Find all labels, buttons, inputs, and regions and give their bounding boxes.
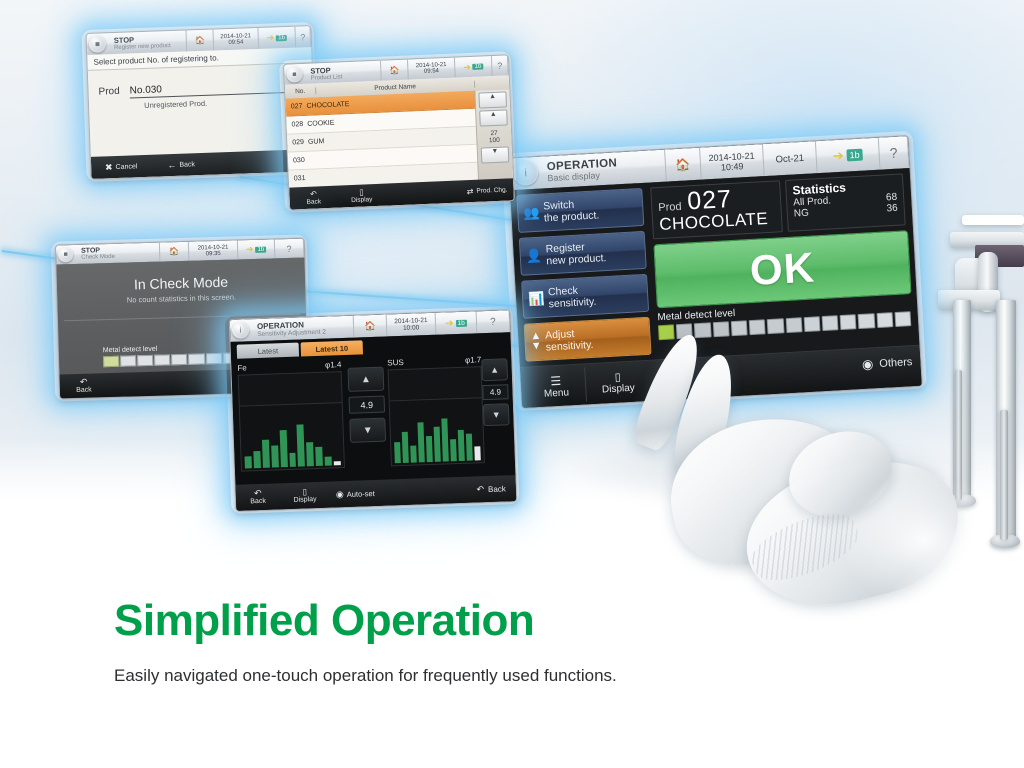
switch-product-icon: 👥 [523, 205, 540, 222]
fe-stepper: ▲ 4.9 ▼ [347, 367, 386, 443]
sensitivity-adjustment-panel: i OPERATION Sensitivity Adjustment 2 🏠 2… [229, 309, 518, 512]
channel-sus: SUS φ1.7 [387, 355, 485, 466]
scroll-down-button[interactable]: ▼ [481, 146, 510, 163]
main-menu-buttons: 👥 Switch the product. 👤 Register new pro… [516, 188, 651, 362]
bar [417, 423, 424, 463]
register-title: Register new product [114, 43, 171, 51]
detect-level-segment [171, 354, 187, 365]
slide-root: i OPERATION Basic display 🏠 2014-10-21 1… [0, 0, 1024, 768]
home-icon[interactable]: 🏠 [160, 242, 190, 262]
sus-name: SUS [387, 358, 404, 368]
tab-latest-10[interactable]: Latest 10 [301, 340, 363, 356]
product-info-box: Prod 027 CHOCOLATE [650, 180, 783, 239]
checkmode-back-label: Back [76, 387, 92, 394]
sens-subtitle: Sensitivity Adjustment 2 [257, 329, 326, 338]
stop-knob-icon[interactable]: ■ [89, 35, 107, 53]
switch-product-line2: the product. [544, 209, 600, 224]
sens-display-button[interactable]: ▯ Display [280, 487, 330, 504]
row-name: COOKIE [307, 120, 335, 128]
main-panel-time: 10:49 [721, 161, 744, 172]
sus-size: φ1.7 [465, 355, 482, 365]
bar [441, 418, 449, 462]
sens-back-label: Back [250, 498, 266, 506]
button-switch-product[interactable]: 👥 Switch the product. [516, 188, 644, 233]
lot-icon[interactable]: 1b [846, 149, 863, 162]
judgement-display: OK [653, 230, 911, 308]
checkmode-back-button[interactable]: ↶ Back [60, 377, 108, 394]
sens-autoset-button[interactable]: ◉ Auto-set [336, 487, 375, 499]
help-icon[interactable]: ? [492, 55, 509, 76]
fe-value: 4.9 [349, 396, 386, 414]
counter-top: 27 [490, 130, 498, 137]
sensitivity-body: Latest Latest 10 Fe φ1.4 [231, 332, 517, 511]
lot-icon[interactable]: 1b [473, 63, 484, 69]
check-mode-title: In Check Mode [56, 258, 305, 295]
sus-stepper: ▲ 4.9 ▼ [481, 358, 509, 426]
register-field-note: Unregistered Prod. [130, 95, 303, 110]
plist-display-button[interactable]: ▯ Display [337, 187, 386, 204]
check-sensitivity-line2: sensitivity. [548, 296, 596, 311]
sus-stepper-down[interactable]: ▼ [483, 403, 510, 426]
home-icon[interactable]: 🏠 [354, 314, 388, 337]
bar-marker [334, 461, 341, 466]
detect-level-segment [137, 355, 153, 366]
product-list-rows: 027 CHOCOLATE 028 COOKIE 029 GUM 030 031 [285, 91, 479, 189]
row-no: 030 [293, 157, 305, 164]
sens-return-label: Back [488, 484, 506, 494]
info-knob-icon[interactable]: i [512, 160, 538, 186]
button-register-product[interactable]: 👤 Register new product. [519, 231, 647, 276]
scroll-page-up-button[interactable]: ▲ [479, 109, 508, 126]
bar [271, 445, 279, 468]
gloved-hand [640, 325, 970, 605]
plist-prodchg-button[interactable]: ⇄ Prod. Chg. [467, 185, 508, 196]
register-cancel-button[interactable]: ✖ Cancel [91, 160, 151, 173]
main-panel-day-label: Oct-21 [763, 141, 818, 176]
main-panel-subtitle: Basic display [547, 170, 600, 183]
row-no: 028 [291, 121, 303, 128]
row-name: GUM [308, 138, 325, 146]
plist-prodchg-label: Prod. Chg. [476, 186, 507, 194]
bar [289, 453, 296, 467]
footer-display-label: Display [602, 383, 635, 396]
counter-bottom: 100 [489, 137, 500, 144]
bar [279, 430, 287, 467]
bar [450, 439, 457, 462]
footer-menu-label: Menu [544, 387, 570, 399]
stop-knob-icon[interactable]: ■ [58, 247, 73, 262]
bar-marker [474, 447, 480, 461]
bar [410, 446, 417, 463]
register-back-label: Back [179, 161, 195, 169]
close-icon: ✖ [105, 162, 113, 173]
row-no: 031 [294, 175, 306, 182]
key-icon[interactable]: ➔ [463, 61, 471, 72]
fe-size: φ1.4 [325, 360, 342, 370]
register-time: 09:54 [228, 39, 243, 46]
key-icon[interactable]: ➔ [445, 318, 454, 329]
register-back-button[interactable]: ← Back [151, 159, 211, 171]
bar [426, 436, 433, 462]
row-no: 027 [291, 103, 303, 110]
checkmode-title-small: Check Mode [81, 254, 115, 261]
sens-display-label: Display [293, 496, 316, 504]
detect-level-segment [154, 354, 170, 365]
bar [253, 451, 261, 469]
stat-label-all-prod: All Prod. [793, 195, 831, 208]
fe-bar-chart [239, 402, 345, 472]
bar [316, 447, 324, 466]
stat-label-ng: NG [794, 208, 810, 220]
sus-stepper-up[interactable]: ▲ [481, 358, 508, 381]
detect-level-segment [206, 353, 222, 364]
fe-name: Fe [237, 363, 247, 372]
info-knob-icon[interactable]: i [232, 321, 250, 339]
register-cancel-label: Cancel [115, 163, 137, 171]
fe-stepper-down[interactable]: ▼ [349, 418, 386, 443]
bar [402, 432, 409, 463]
bar [466, 433, 473, 460]
plist-back-button[interactable]: ↶ Back [289, 189, 338, 206]
help-icon[interactable]: ? [879, 136, 910, 170]
product-list-body: No. Product Name 027 CHOCOLATE 028 COOKI… [285, 75, 514, 209]
back-arrow-icon: ↶ [254, 489, 262, 498]
menu-icon: ☰ [550, 373, 562, 388]
home-icon[interactable]: 🏠 [381, 60, 409, 81]
plist-time: 09:54 [424, 68, 439, 75]
back-arrow-icon: ← [167, 160, 176, 170]
detect-level-segment-active [103, 356, 119, 367]
fe-stepper-up[interactable]: ▲ [347, 367, 384, 392]
auto-set-icon: ◉ [336, 489, 344, 500]
fe-upper-box [238, 371, 343, 406]
register-product-icon: 👤 [525, 248, 542, 265]
plist-title: Product List [311, 74, 343, 81]
display-icon: ▯ [359, 188, 364, 196]
sus-value: 4.9 [482, 384, 509, 400]
help-icon[interactable]: ? [477, 310, 511, 333]
key-icon[interactable]: ➔ [832, 148, 844, 165]
tab-latest[interactable]: Latest [237, 343, 299, 359]
sens-time: 10:00 [403, 324, 420, 332]
display-icon: ▯ [614, 370, 621, 383]
footer-display-button[interactable]: ▯ Display [588, 364, 648, 401]
judgement-value: OK [749, 243, 817, 295]
home-icon[interactable]: 🏠 [665, 148, 702, 182]
stat-value-all-prod: 68 [886, 192, 898, 204]
button-check-sensitivity[interactable]: 📊 Check sensitivity. [521, 274, 649, 319]
adjust-sensitivity-line2: sensitivity. [546, 339, 594, 354]
bar [434, 426, 441, 462]
sens-autoset-label: Auto-set [347, 488, 375, 498]
bar [306, 443, 314, 467]
bar [458, 430, 465, 461]
page-title: Simplified Operation [114, 598, 974, 644]
bar [325, 457, 332, 466]
checkmode-time: 09:35 [206, 250, 221, 256]
stat-value-ng: 36 [886, 203, 898, 215]
column-no: No. [285, 87, 316, 95]
display-icon: ▯ [302, 488, 307, 496]
return-arrow-icon: ↶ [476, 484, 484, 495]
help-icon[interactable]: ? [295, 26, 311, 48]
register-field-label: Prod [98, 86, 119, 98]
lot-icon[interactable]: 1b [455, 319, 466, 326]
row-name: CHOCOLATE [306, 101, 349, 110]
product-list-panel: ■ STOP Product List 🏠 2014-10-21 09:54 ➔… [283, 54, 515, 210]
page-subtitle: Easily navigated one-touch operation for… [114, 666, 974, 686]
product-list-counter: 27 100 [489, 130, 500, 145]
product-list-scroll-column: ▲ ▲ 27 100 ▼ [474, 89, 513, 179]
adjust-sensitivity-icon: ▲▼ [530, 332, 542, 352]
channel-fe: Fe φ1.4 [237, 360, 345, 472]
footer-menu-button[interactable]: ☰ Menu [526, 367, 587, 404]
sens-back-button[interactable]: ↶ Back [236, 488, 281, 506]
plist-display-label: Display [351, 196, 373, 204]
bar [297, 424, 305, 466]
home-icon[interactable]: 🏠 [186, 30, 214, 52]
row-no: 029 [292, 139, 304, 146]
stop-knob-icon[interactable]: ■ [286, 66, 303, 83]
lot-icon[interactable]: 1b [255, 246, 266, 252]
plist-back-label: Back [306, 198, 321, 206]
detect-level-segment [188, 353, 204, 364]
scroll-up-button[interactable]: ▲ [478, 91, 507, 108]
register-product-line2: new product. [546, 252, 607, 267]
button-adjust-sensitivity[interactable]: ▲▼ Adjust sensitivity. [524, 317, 652, 362]
statistics-box: Statistics All Prod. 68 NG 36 [785, 173, 906, 232]
back-arrow-icon: ↶ [80, 378, 88, 387]
key-icon[interactable]: ➔ [246, 244, 254, 255]
check-sensitivity-icon: 📊 [528, 291, 545, 308]
sus-upper-box [388, 366, 483, 400]
bar [245, 457, 252, 469]
bar [394, 442, 401, 463]
bar [262, 440, 270, 468]
help-icon[interactable]: ? [275, 239, 305, 259]
detect-level-segment [120, 355, 136, 366]
sens-return-button[interactable]: ↶ Back [476, 483, 506, 495]
product-label: Prod [658, 201, 682, 214]
sus-bar-chart [389, 397, 485, 466]
key-icon[interactable]: ➔ [266, 32, 274, 43]
product-change-icon: ⇄ [467, 186, 474, 195]
caption-block: Simplified Operation Easily navigated on… [114, 598, 974, 686]
lot-icon[interactable]: 1b [276, 34, 287, 40]
